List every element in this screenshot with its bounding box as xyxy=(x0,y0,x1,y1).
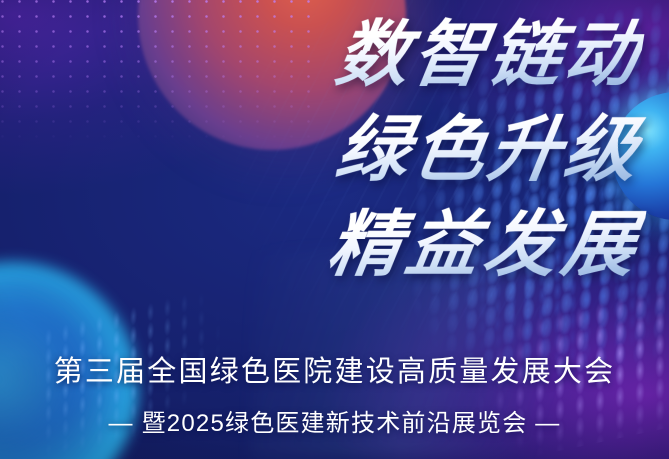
headline-line-3: 精益发展 xyxy=(163,198,648,293)
exhibition-subtitle: — 暨2025绿色医建新技术前沿展览会 — xyxy=(0,408,669,440)
conference-poster: 数智链动 绿色升级 精益发展 第三届全国绿色医院建设高质量发展大会 — 暨202… xyxy=(0,0,669,459)
conference-title: 第三届全国绿色医院建设高质量发展大会 xyxy=(0,352,669,392)
poster-subtitle-block: 第三届全国绿色医院建设高质量发展大会 — 暨2025绿色医建新技术前沿展览会 — xyxy=(0,352,669,440)
headline-line-2: 绿色升级 xyxy=(163,103,648,198)
poster-headline: 数智链动 绿色升级 精益发展 xyxy=(171,8,641,293)
headline-line-1: 数智链动 xyxy=(163,8,648,103)
